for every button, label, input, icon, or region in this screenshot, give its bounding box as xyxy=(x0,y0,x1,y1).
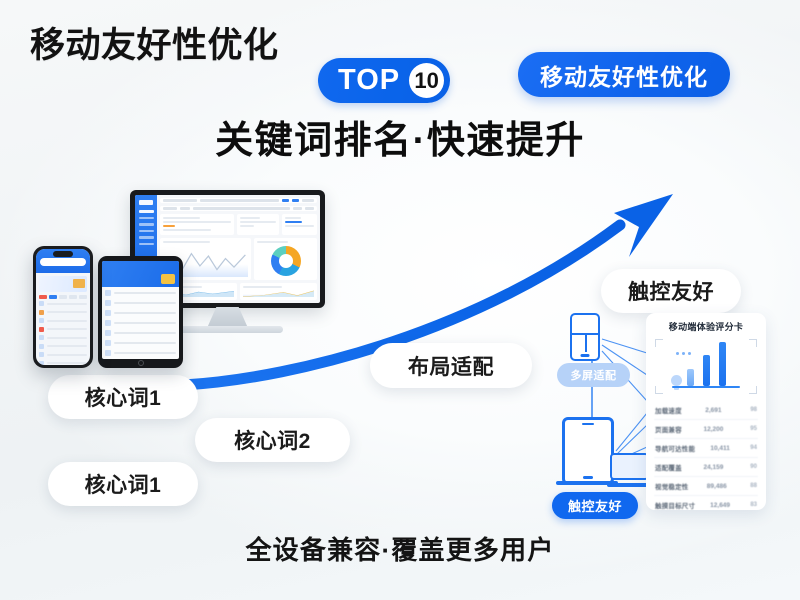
row-value: 10,411 xyxy=(710,445,730,452)
tablet-home-button-icon xyxy=(138,360,144,366)
keyword-pill-layout-adapt[interactable]: 布局适配 xyxy=(370,343,532,388)
row-value: 24,159 xyxy=(703,464,723,471)
row-name: 视觉稳定性 xyxy=(655,481,689,491)
mobile-score-card: 移动端体验评分卡 加载速度 2,691 98 xyxy=(646,313,766,510)
row-value: 89,486 xyxy=(707,483,727,490)
row-value: 12,200 xyxy=(703,426,723,433)
diagram-solid-pill: 触控友好 xyxy=(552,492,638,519)
poster-canvas: 移动友好性优化 TOP 10 移动友好性优化 关键词排名·快速提升 xyxy=(0,0,800,600)
page-title: 移动友好性优化 xyxy=(30,28,279,63)
row-name: 导航可达性能 xyxy=(655,443,695,453)
table-row: 适配覆盖 24,159 90 xyxy=(654,458,758,477)
row-name: 适配覆盖 xyxy=(655,462,682,472)
row-value: 12,649 xyxy=(710,502,730,509)
diagram-phone-icon xyxy=(570,313,600,361)
score-card-title: 移动端体验评分卡 xyxy=(654,320,758,333)
row-value: 2,691 xyxy=(705,407,721,414)
top-badge-word: TOP xyxy=(338,66,400,95)
table-row: 触摸目标尺寸 12,649 83 xyxy=(654,496,758,510)
tablet-mockup xyxy=(98,256,183,368)
footer-tagline: 全设备兼容·覆盖更多用户 xyxy=(0,530,800,567)
top-badge-number: 10 xyxy=(409,63,444,98)
row-score: 94 xyxy=(745,445,757,451)
keyword-pill-2[interactable]: 核心词2 xyxy=(195,418,350,462)
table-row: 视觉稳定性 89,486 88 xyxy=(654,477,758,496)
phone-search-field xyxy=(40,258,86,266)
score-card-illustration xyxy=(654,338,758,395)
row-name: 加载速度 xyxy=(655,405,682,415)
top-rank-badge: TOP 10 xyxy=(318,58,450,103)
keyword-pill-1[interactable]: 核心词1 xyxy=(48,375,198,419)
donut-chart xyxy=(271,246,301,276)
table-row: 页面兼容 12,200 95 xyxy=(654,420,758,439)
table-row: 加载速度 2,691 98 xyxy=(654,401,758,420)
multi-device-diagram: 多屏适配 触控友好 移动端体验评分卡 xyxy=(552,305,767,510)
score-card-table: 加载速度 2,691 98 页面兼容 12,200 95 导航可达性能 10,4… xyxy=(654,401,758,510)
row-score: 98 xyxy=(745,407,757,413)
keyword-pill-3[interactable]: 核心词1 xyxy=(48,462,198,506)
row-name: 触摸目标尺寸 xyxy=(655,500,695,510)
row-score: 83 xyxy=(745,502,757,508)
phone-mockup xyxy=(33,246,93,368)
phone-notch-icon xyxy=(53,251,73,257)
diagram-soft-pill: 多屏适配 xyxy=(557,363,630,387)
header-blue-pill: 移动友好性优化 xyxy=(518,52,730,97)
device-mockups xyxy=(30,188,330,378)
row-score: 90 xyxy=(745,464,757,470)
table-row: 导航可达性能 10,411 94 xyxy=(654,439,758,458)
row-score: 95 xyxy=(745,426,757,432)
row-score: 88 xyxy=(745,483,757,489)
page-subtitle: 关键词排名·快速提升 xyxy=(0,122,800,160)
row-name: 页面兼容 xyxy=(655,424,682,434)
